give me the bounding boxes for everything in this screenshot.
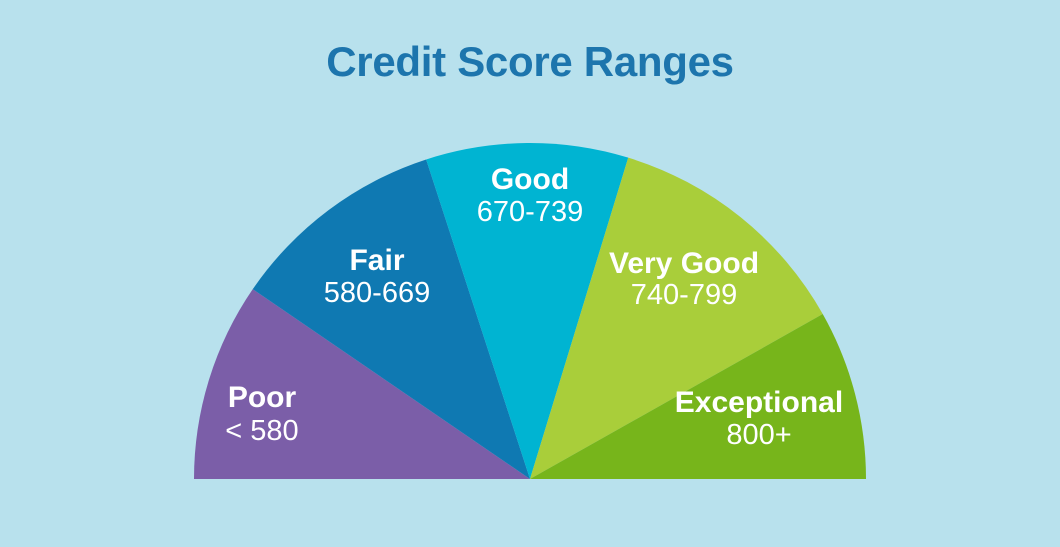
segment-label-exceptional-name: Exceptional: [675, 386, 843, 419]
segment-label-very-good-name: Very Good: [609, 247, 759, 280]
segment-label-fair-range: 580-669: [324, 277, 430, 309]
segment-label-exceptional-range: 800+: [726, 419, 791, 451]
segment-label-poor-name: Poor: [228, 381, 297, 414]
credit-score-gauge: Poor < 580 Fair 580-669 Good 670-739 Ver…: [0, 0, 1060, 547]
gauge-svg: Poor < 580 Fair 580-669 Good 670-739 Ver…: [0, 0, 1060, 547]
segment-label-good-range: 670-739: [477, 196, 583, 228]
chart-canvas: Credit Score Ranges Poor < 580 Fair 580-…: [0, 0, 1060, 547]
segment-label-very-good-range: 740-799: [631, 279, 737, 311]
segment-label-poor-range: < 580: [225, 415, 298, 447]
segment-label-fair-name: Fair: [349, 244, 404, 277]
segment-label-good-name: Good: [491, 163, 569, 196]
